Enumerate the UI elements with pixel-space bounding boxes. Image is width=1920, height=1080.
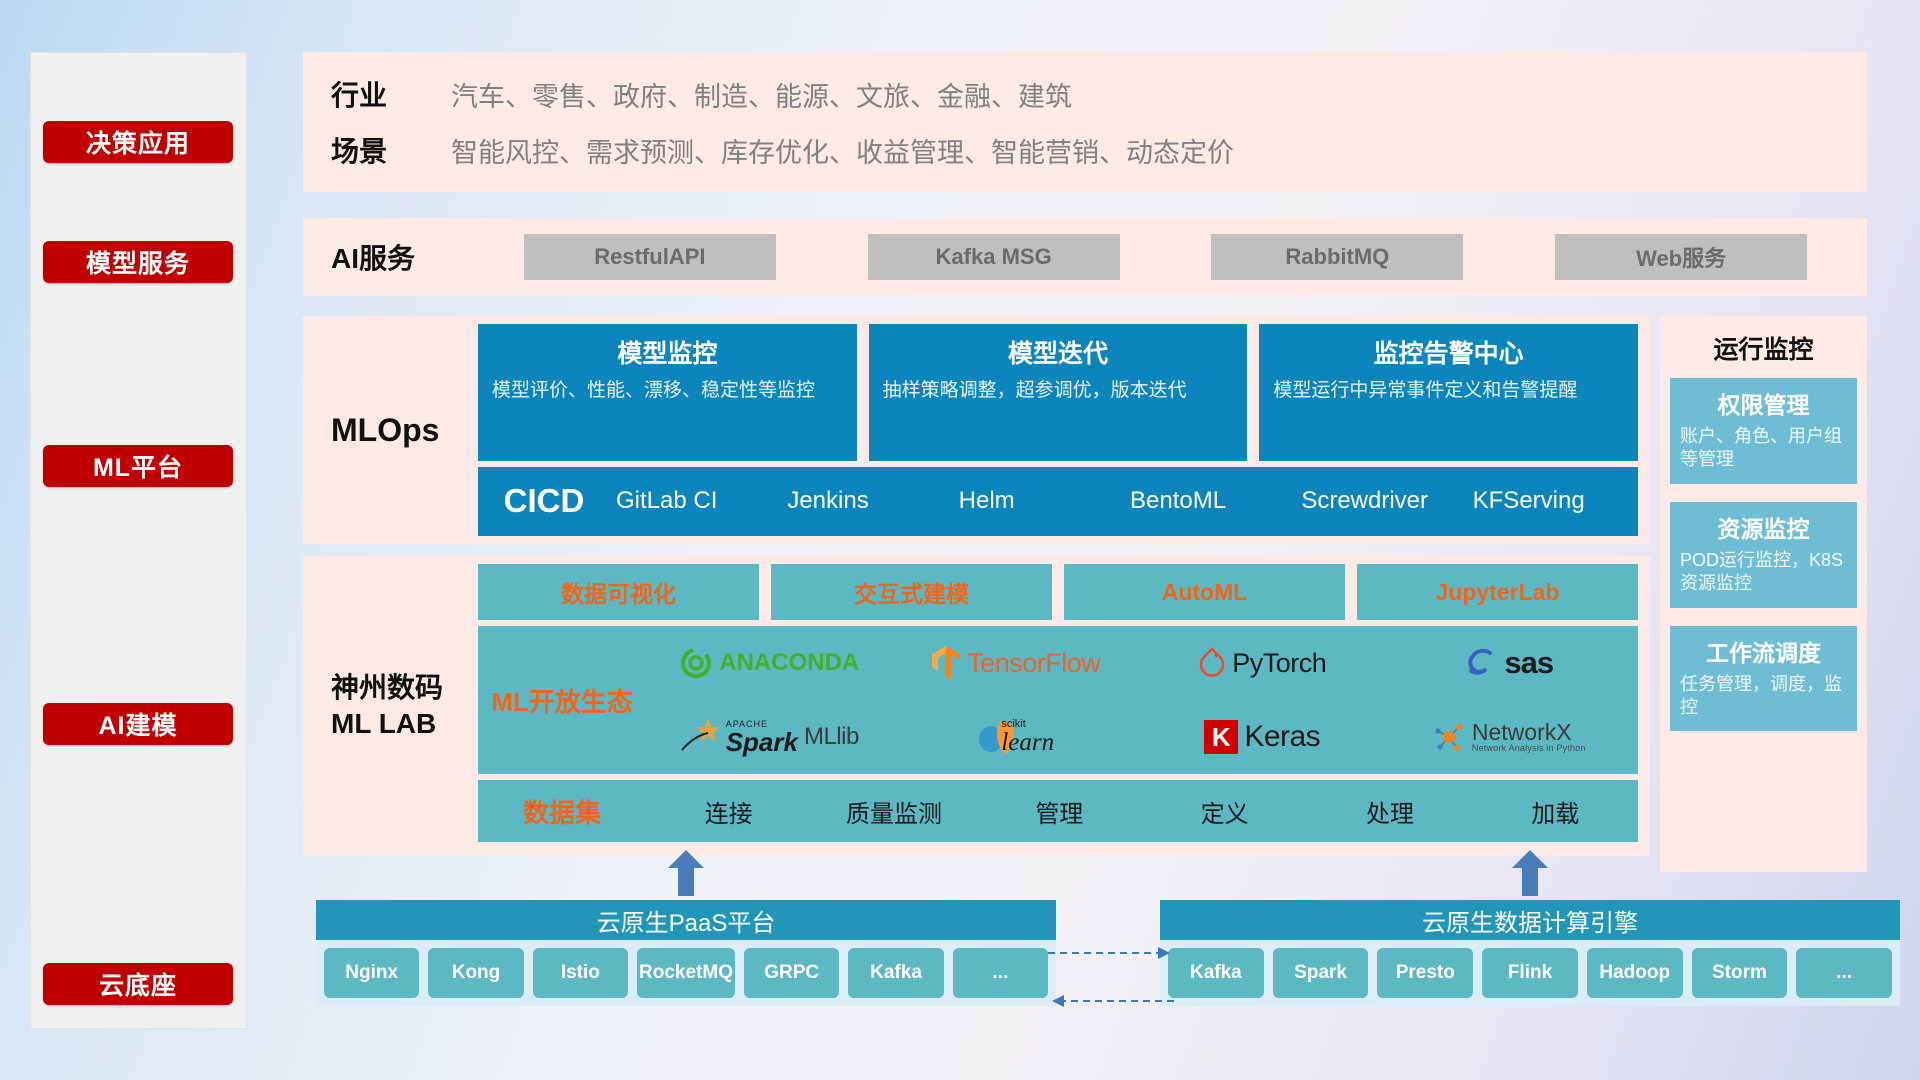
- learn-wordmark: learn: [1001, 730, 1054, 755]
- ai-service-items: RestfulAPI Kafka MSG RabbitMQ Web服务: [478, 234, 1867, 280]
- card-title: 权限管理: [1680, 386, 1847, 420]
- mlops-band: MLOps 模型监控 模型评价、性能、漂移、稳定性等监控 模型迭代 抽样策略调整…: [303, 316, 1650, 544]
- engine-chip-hadoop[interactable]: Hadoop: [1587, 948, 1683, 998]
- card-desc: 抽样策略调整，超参调优，版本迭代: [883, 378, 1234, 404]
- ml-lab-band: 神州数码 ML LAB 数据可视化 交互式建模 AutoML JupyterLa…: [303, 556, 1650, 856]
- dataset-item-define[interactable]: 定义: [1142, 794, 1307, 829]
- cloud-native-compute-engine-group: 云原生数据计算引擎 Kafka Spark Presto Flink Hadoo…: [1160, 900, 1900, 1006]
- paas-chip-nginx[interactable]: Nginx: [324, 948, 419, 998]
- anaconda-logo: ANACONDA: [679, 646, 859, 680]
- dataset-item-process[interactable]: 处理: [1307, 794, 1472, 829]
- spark-mllib-logo: APACHE Spark MLlib: [680, 716, 859, 758]
- ml-lab-tab-list: 数据可视化 交互式建模 AutoML JupyterLab: [478, 564, 1638, 620]
- engine-chip-flink[interactable]: Flink: [1482, 948, 1578, 998]
- keras-mark-letter: K: [1212, 722, 1231, 753]
- cicd-tool-bentoml[interactable]: BentoML: [1124, 489, 1295, 513]
- pytorch-mark: [1198, 647, 1226, 679]
- keras-mark: K: [1204, 720, 1238, 754]
- mlops-label: MLOps: [303, 316, 478, 544]
- engine-title: 云原生数据计算引擎: [1160, 900, 1900, 940]
- ml-lab-tab-automl[interactable]: AutoML: [1064, 564, 1345, 620]
- keras-wordmark: Keras: [1244, 720, 1320, 754]
- industry-row: 行业 汽车、零售、政府、制造、能源、文旅、金融、建筑: [331, 74, 1072, 114]
- layer-chip-cloud-base[interactable]: 云底座: [43, 963, 233, 1005]
- spark-mark: [680, 716, 720, 758]
- mlops-content: 模型监控 模型评价、性能、漂移、稳定性等监控 模型迭代 抽样策略调整，超参调优，…: [478, 316, 1650, 544]
- engine-up-arrow-icon: [1510, 850, 1550, 896]
- ai-service-restfulapi[interactable]: RestfulAPI: [524, 234, 776, 280]
- layer-chip-ml-platform[interactable]: ML平台: [43, 445, 233, 487]
- cicd-tool-kfserving[interactable]: KFServing: [1467, 489, 1638, 513]
- industry-label: 行业: [331, 74, 451, 114]
- dataset-item-manage[interactable]: 管理: [977, 794, 1142, 829]
- card-desc: 模型运行中异常事件定义和告警提醒: [1273, 378, 1624, 404]
- dataset-row: 数据集 连接 质量监测 管理 定义 处理 加载: [478, 780, 1638, 842]
- tensorflow-wordmark: TensorFlow: [967, 648, 1100, 679]
- ml-lab-content: 数据可视化 交互式建模 AutoML JupyterLab ML开放生态 ANA…: [478, 556, 1650, 856]
- ai-service-slot: Web服务: [1509, 234, 1853, 280]
- mllib-wordmark: MLlib: [804, 723, 859, 751]
- card-title: 模型监控: [492, 334, 843, 370]
- pytorch-logo: PyTorch: [1198, 647, 1326, 679]
- dataset-item-load[interactable]: 加载: [1473, 794, 1638, 829]
- card-title: 模型迭代: [883, 334, 1234, 370]
- paas-chip-list: Nginx Kong Istio RocketMQ GRPC Kafka ...: [316, 940, 1056, 1006]
- engine-chip-kafka[interactable]: Kafka: [1168, 948, 1264, 998]
- scikit-learn-logo: scikit learn: [977, 717, 1054, 757]
- paas-chip-istio[interactable]: Istio: [533, 948, 628, 998]
- mlops-card-alert-center[interactable]: 监控告警中心 模型运行中异常事件定义和告警提醒: [1259, 324, 1638, 461]
- runmon-card-workflow[interactable]: 工作流调度 任务管理，调度，监控: [1670, 626, 1857, 732]
- ai-service-slot: Kafka MSG: [822, 234, 1166, 280]
- networkx-wordmark: NetworkX: [1472, 720, 1586, 744]
- industry-scenario-band: 行业 汽车、零售、政府、制造、能源、文旅、金融、建筑 场景 智能风控、需求预测、…: [303, 52, 1867, 192]
- card-title: 监控告警中心: [1273, 334, 1624, 370]
- mlops-card-list: 模型监控 模型评价、性能、漂移、稳定性等监控 模型迭代 抽样策略调整，超参调优，…: [478, 324, 1638, 461]
- layer-chip-model-service[interactable]: 模型服务: [43, 241, 233, 283]
- dataset-item-connect[interactable]: 连接: [646, 794, 811, 829]
- tensorflow-logo: TensorFlow: [931, 645, 1100, 681]
- engine-chip-presto[interactable]: Presto: [1377, 948, 1473, 998]
- paas-up-arrow-icon: [666, 850, 706, 896]
- paas-chip-rocketmq[interactable]: RocketMQ: [637, 948, 735, 998]
- run-monitoring-title: 运行监控: [1670, 330, 1857, 366]
- card-title: 资源监控: [1680, 510, 1847, 544]
- paas-chip-grpc[interactable]: GRPC: [744, 948, 839, 998]
- ai-service-rabbitmq[interactable]: RabbitMQ: [1211, 234, 1463, 280]
- engine-chip-spark[interactable]: Spark: [1273, 948, 1369, 998]
- runmon-card-permission[interactable]: 权限管理 账户、角色、用户组等管理: [1670, 378, 1857, 484]
- cicd-title: CICD: [478, 482, 610, 520]
- cicd-tool-jenkins[interactable]: Jenkins: [781, 489, 952, 513]
- tensorflow-mark: [931, 645, 961, 681]
- networkx-tagline: Network Analysis in Python: [1472, 744, 1586, 753]
- pytorch-wordmark: PyTorch: [1232, 648, 1326, 679]
- engine-chip-list: Kafka Spark Presto Flink Hadoop Storm ..…: [1160, 940, 1900, 1006]
- cicd-tool-helm[interactable]: Helm: [953, 489, 1124, 513]
- sas-logo: sas: [1464, 645, 1553, 681]
- networkx-mark: [1432, 720, 1466, 754]
- ml-lab-tab-interactive-modeling[interactable]: 交互式建模: [771, 564, 1052, 620]
- layer-rail: 决策应用 模型服务 ML平台 AI建模 云底座: [30, 52, 247, 1029]
- paas-engine-connector: [1046, 935, 1176, 1021]
- scenario-row: 场景 智能风控、需求预测、库存优化、收益管理、智能营销、动态定价: [331, 130, 1234, 170]
- card-desc: 任务管理，调度，监控: [1680, 673, 1847, 720]
- dataset-item-quality-monitoring[interactable]: 质量监测: [811, 794, 976, 829]
- keras-logo: K Keras: [1204, 720, 1320, 754]
- run-monitoring-panel: 运行监控 权限管理 账户、角色、用户组等管理 资源监控 POD运行监控，K8S资…: [1660, 316, 1867, 872]
- ai-service-kafka-msg[interactable]: Kafka MSG: [868, 234, 1120, 280]
- industry-value: 汽车、零售、政府、制造、能源、文旅、金融、建筑: [451, 75, 1072, 114]
- cicd-bar: CICD GitLab CI Jenkins Helm BentoML Scre…: [478, 467, 1638, 536]
- ai-service-web[interactable]: Web服务: [1555, 234, 1807, 280]
- mlops-card-model-iteration[interactable]: 模型迭代 抽样策略调整，超参调优，版本迭代: [869, 324, 1248, 461]
- scenario-label: 场景: [331, 130, 451, 170]
- ml-ecosystem-row: ML开放生态 ANACONDA: [478, 626, 1638, 774]
- scenario-value: 智能风控、需求预测、库存优化、收益管理、智能营销、动态定价: [451, 131, 1234, 170]
- ai-service-label: AI服务: [303, 237, 478, 277]
- ml-lab-label-line2: ML LAB: [331, 706, 478, 742]
- card-title: 工作流调度: [1680, 634, 1847, 668]
- cicd-tool-gitlab-ci[interactable]: GitLab CI: [610, 489, 781, 513]
- layer-chip-decision-app[interactable]: 决策应用: [43, 121, 233, 163]
- anaconda-wordmark: ANACONDA: [719, 649, 859, 677]
- architecture-diagram: 决策应用 模型服务 ML平台 AI建模 云底座 行业 汽车、零售、政府、制造、能…: [0, 0, 1920, 1080]
- sas-wordmark: sas: [1504, 645, 1553, 681]
- layer-chip-ai-modeling[interactable]: AI建模: [43, 703, 233, 745]
- paas-chip-kong[interactable]: Kong: [428, 948, 523, 998]
- runmon-card-resource[interactable]: 资源监控 POD运行监控，K8S资源监控: [1670, 502, 1857, 608]
- networkx-logo: NetworkX Network Analysis in Python: [1432, 720, 1586, 754]
- ml-lab-tab-jupyterlab[interactable]: JupyterLab: [1357, 564, 1638, 620]
- paas-title: 云原生PaaS平台: [316, 900, 1056, 940]
- card-desc: 模型评价、性能、漂移、稳定性等监控: [492, 378, 843, 404]
- ml-lab-label-line1: 神州数码: [331, 670, 478, 706]
- ml-lab-label: 神州数码 ML LAB: [303, 556, 478, 856]
- cloud-native-paas-group: 云原生PaaS平台 Nginx Kong Istio RocketMQ GRPC…: [316, 900, 1056, 1006]
- ml-lab-tab-data-visualization[interactable]: 数据可视化: [478, 564, 759, 620]
- mlops-card-model-monitoring[interactable]: 模型监控 模型评价、性能、漂移、稳定性等监控: [478, 324, 857, 461]
- ai-service-slot: RestfulAPI: [478, 234, 822, 280]
- ml-ecosystem-label: ML开放生态: [478, 682, 646, 719]
- card-desc: 账户、角色、用户组等管理: [1680, 425, 1847, 472]
- ai-service-slot: RabbitMQ: [1166, 234, 1510, 280]
- engine-chip-storm[interactable]: Storm: [1692, 948, 1788, 998]
- spark-wordmark: Spark: [726, 729, 798, 755]
- ml-ecosystem-logo-grid: ANACONDA TensorFlow: [646, 626, 1638, 774]
- paas-chip-more[interactable]: ...: [953, 948, 1048, 998]
- ai-service-band: AI服务 RestfulAPI Kafka MSG RabbitMQ Web服务: [303, 218, 1867, 296]
- cicd-tool-screwdriver[interactable]: Screwdriver: [1295, 489, 1466, 513]
- dataset-label: 数据集: [478, 793, 646, 830]
- card-desc: POD运行监控，K8S资源监控: [1680, 549, 1847, 596]
- engine-chip-more[interactable]: ...: [1796, 948, 1892, 998]
- sas-mark: [1464, 647, 1498, 679]
- paas-chip-kafka[interactable]: Kafka: [848, 948, 943, 998]
- anaconda-mark: [679, 646, 713, 680]
